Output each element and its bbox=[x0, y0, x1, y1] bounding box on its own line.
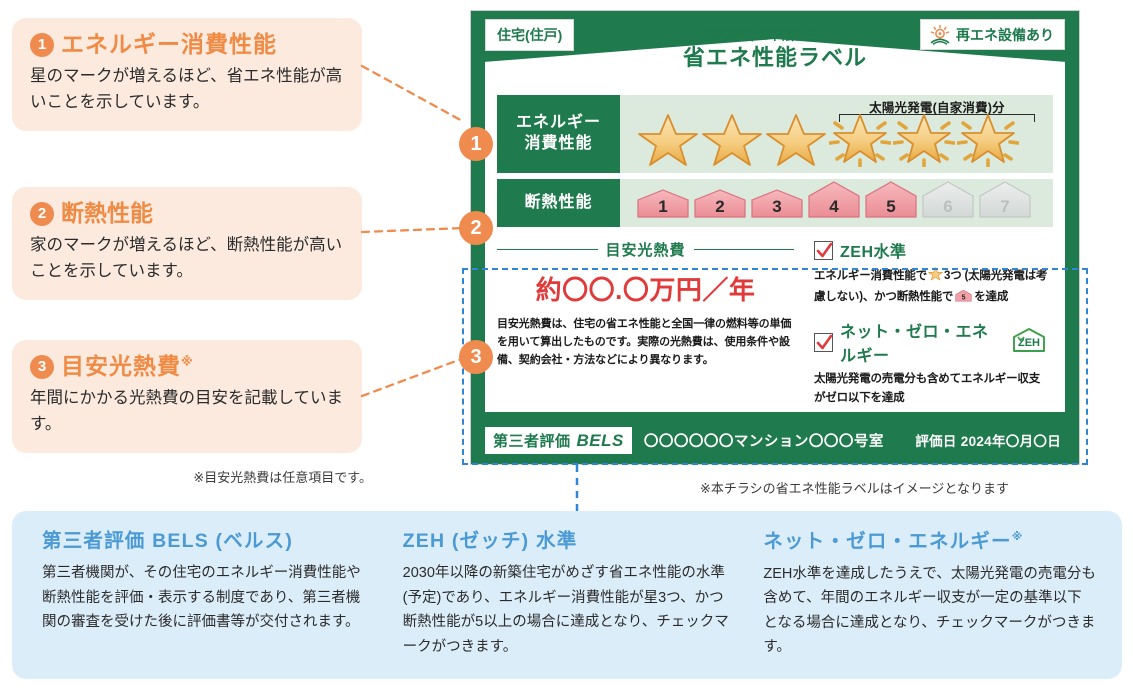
connector-line-1 bbox=[360, 60, 470, 130]
star-icon bbox=[928, 266, 943, 288]
utility-cost-heading: 目安光熱費 bbox=[497, 239, 794, 260]
callout-title: 断熱性能 bbox=[61, 201, 153, 226]
net-zero-energy-header: ネット・ゼロ・エネルギー ZEH bbox=[814, 318, 1049, 366]
zeh-standard-desc: エネルギー消費性能で3つ (太陽光発電は考慮しない)、かつ断熱性能で5を達成 bbox=[814, 266, 1049, 309]
glossary-title: ZEH (ゼッチ) 水準 bbox=[403, 531, 736, 552]
callout-header: 3 目安光熱費※ bbox=[30, 354, 344, 379]
svg-text:5: 5 bbox=[962, 294, 966, 301]
zeh-standard-item: ZEH水準 エネルギー消費性能で3つ (太陽光発電は考慮しない)、かつ断熱性能で… bbox=[814, 238, 1049, 309]
net-zero-energy-item: ネット・ゼロ・エネルギー ZEH 太陽光発電の売電分も含めてエネルギー収支がゼロ… bbox=[814, 318, 1049, 407]
renewable-chip-label: 再エネ設備あり bbox=[956, 25, 1054, 45]
callout-title: 目安光熱費※ bbox=[61, 354, 194, 379]
step-marker-3: 3 bbox=[459, 340, 493, 374]
house-grade-number: 6 bbox=[921, 197, 975, 217]
house-type-chip: 住宅(住戸) bbox=[485, 19, 574, 51]
callout-body: 年間にかかる光熱費の目安を記載しています。 bbox=[30, 386, 344, 437]
utility-cost-heading-text: 目安光熱費 bbox=[606, 239, 686, 260]
glossary-body: 第三者機関が、その住宅のエネルギー消費性能や断熱性能を評価・表示する制度であり、… bbox=[42, 561, 375, 634]
glossary-title: 第三者評価 BELS (ベルス) bbox=[42, 531, 375, 552]
heading-rule-right bbox=[694, 249, 795, 251]
house-grade-number: 1 bbox=[636, 197, 690, 217]
callout-number-badge: 1 bbox=[30, 33, 54, 57]
optional-item-note: ※目安光熱費は任意項目です。 bbox=[0, 467, 372, 486]
star-radiating-icon bbox=[893, 109, 955, 167]
zeh-standard-title: ZEH水準 bbox=[840, 238, 907, 262]
energy-performance-row: エネルギー 消費性能 太陽光発電(自家消費)分 bbox=[497, 95, 1053, 173]
connector-line-2 bbox=[360, 218, 470, 242]
insulation-row-label: 断熱性能 bbox=[497, 179, 620, 227]
zeh-desc-part3: を達成 bbox=[974, 291, 1008, 303]
house-grade-icon: 1 bbox=[636, 188, 690, 223]
glossary-title-text: ネット・ゼロ・エネルギー bbox=[763, 531, 1011, 553]
step-marker-1: 1 bbox=[459, 127, 493, 161]
bels-evaluation-date: 評価日 2024年〇月〇日 bbox=[915, 430, 1065, 450]
star-radiating-icon bbox=[829, 109, 891, 167]
insulation-row-content: 1 2 3 bbox=[620, 179, 1053, 227]
star-icon bbox=[637, 109, 699, 167]
callout-body: 星のマークが増えるほど、省エネ性能が高いことを示しています。 bbox=[30, 64, 344, 115]
star-icon bbox=[701, 109, 763, 167]
renewable-equipment-chip: 再エネ設備あり bbox=[920, 19, 1065, 50]
bels-badge-text: 第三者評価 bbox=[493, 430, 571, 451]
callout-number-badge: 2 bbox=[30, 202, 54, 226]
bels-footer-bar: 第三者評価 BELS 〇〇〇〇〇〇マンション〇〇〇号室 評価日 2024年〇月〇… bbox=[485, 425, 1065, 455]
svg-text:ZEH: ZEH bbox=[1018, 337, 1040, 349]
insulation-grade-group: 1 2 3 bbox=[636, 179, 1032, 227]
star-icon bbox=[765, 109, 827, 167]
house-grade-icon: 5 bbox=[955, 288, 972, 310]
house-grade-icon-inactive: 7 bbox=[978, 180, 1032, 223]
callout-insulation-performance: 2 断熱性能 家のマークが増えるほど、断熱性能が高いことを示しています。 bbox=[12, 187, 362, 300]
house-grade-number: 4 bbox=[807, 197, 861, 217]
energy-row-label: エネルギー 消費性能 bbox=[497, 95, 620, 173]
heading-rule-left bbox=[497, 249, 598, 251]
utility-cost-block: 目安光熱費 約〇〇.〇万円／年 目安光熱費は、住宅の省エネ性能と全国一律の燃料等… bbox=[497, 233, 794, 372]
insulation-performance-row: 断熱性能 1 bbox=[497, 179, 1053, 227]
callout-estimated-utility-cost: 3 目安光熱費※ 年間にかかる光熱費の目安を記載しています。 bbox=[12, 340, 362, 453]
bels-badge-mark: BELS bbox=[577, 431, 624, 451]
label-inner-body: エネルギー 消費性能 太陽光発電(自家消費)分 bbox=[485, 83, 1065, 412]
glossary-item-bels: 第三者評価 BELS (ベルス) 第三者機関が、その住宅のエネルギー消費性能や断… bbox=[42, 531, 375, 661]
glossary-item-zeh: ZEH (ゼッチ) 水準 2030年以降の新築住宅がめざす省エネ性能の水準(予定… bbox=[403, 531, 736, 661]
glossary-panel: 第三者評価 BELS (ベルス) 第三者機関が、その住宅のエネルギー消費性能や断… bbox=[12, 511, 1122, 679]
glossary-item-net-zero: ネット・ゼロ・エネルギー※ ZEH水準を達成したうえで、太陽光発電の売電分も含め… bbox=[763, 531, 1096, 661]
callout-header: 1 エネルギー消費性能 bbox=[30, 32, 344, 57]
sun-renewable-icon bbox=[929, 24, 951, 45]
bels-badge: 第三者評価 BELS bbox=[485, 427, 632, 454]
callout-number-badge: 3 bbox=[30, 355, 54, 379]
house-grade-icon-inactive: 6 bbox=[921, 180, 975, 223]
house-grade-icon: 3 bbox=[750, 188, 804, 223]
glossary-body: 2030年以降の新築住宅がめざす省エネ性能の水準(予定)であり、エネルギー消費性… bbox=[403, 561, 736, 658]
connector-line-3 bbox=[360, 352, 470, 402]
zeh-desc-part1: エネルギー消費性能で bbox=[814, 270, 927, 282]
energy-row-label-line1: エネルギー bbox=[516, 113, 601, 134]
label-image-disclaimer: ※本チラシの省エネ性能ラベルはイメージとなります bbox=[700, 478, 1009, 497]
label-lower-section: 目安光熱費 約〇〇.〇万円／年 目安光熱費は、住宅の省エネ性能と全国一律の燃料等… bbox=[497, 233, 1053, 372]
glossary-title-asterisk: ※ bbox=[1012, 531, 1024, 543]
house-grade-icon: 4 bbox=[807, 180, 861, 223]
zeh-logo-icon: ZEH bbox=[1009, 327, 1049, 358]
energy-performance-label-card: 建築物省エネ法に基づく 省エネ性能ラベル 住宅(住戸) 再エネ設備あり エネルギ… bbox=[470, 10, 1080, 465]
callout-title: エネルギー消費性能 bbox=[61, 32, 277, 57]
callout-header: 2 断熱性能 bbox=[30, 201, 344, 226]
zeh-achievement-block: ZEH水準 エネルギー消費性能で3つ (太陽光発電は考慮しない)、かつ断熱性能で… bbox=[804, 233, 1053, 372]
utility-cost-note: 目安光熱費は、住宅の省エネ性能と全国一律の燃料等の単価を用いて算出したものです。… bbox=[497, 316, 794, 369]
house-grade-icon: 5 bbox=[864, 180, 918, 223]
star-radiating-icon bbox=[957, 109, 1019, 167]
callout-body: 家のマークが増えるほど、断熱性能が高いことを示しています。 bbox=[30, 233, 344, 284]
connector-line-to-glossary bbox=[570, 464, 584, 514]
callout-title-text: 目安光熱費 bbox=[61, 353, 181, 379]
callout-energy-performance: 1 エネルギー消費性能 星のマークが増えるほど、省エネ性能が高いことを示していま… bbox=[12, 18, 362, 131]
bels-property-name: 〇〇〇〇〇〇マンション〇〇〇号室 bbox=[644, 430, 884, 451]
zeh-standard-header: ZEH水準 bbox=[814, 238, 1049, 262]
checkbox-checked-icon[interactable] bbox=[814, 333, 833, 352]
star-rating-group bbox=[637, 109, 1019, 167]
glossary-body: ZEH水準を達成したうえで、太陽光発電の売電分も含めて、年間のエネルギー収支が一… bbox=[763, 562, 1096, 659]
step-marker-2: 2 bbox=[459, 211, 493, 245]
house-grade-number: 3 bbox=[750, 197, 804, 217]
house-grade-number: 7 bbox=[978, 197, 1032, 217]
energy-row-label-line2: 消費性能 bbox=[524, 134, 592, 155]
utility-cost-amount: 約〇〇.〇万円／年 bbox=[497, 270, 794, 307]
house-grade-number: 5 bbox=[864, 197, 918, 217]
checkbox-checked-icon[interactable] bbox=[814, 241, 833, 260]
glossary-title: ネット・ゼロ・エネルギー※ bbox=[763, 531, 1096, 553]
house-grade-icon: 2 bbox=[693, 188, 747, 223]
house-grade-number: 2 bbox=[693, 197, 747, 217]
energy-row-content: 太陽光発電(自家消費)分 bbox=[620, 95, 1053, 173]
callout-title-asterisk: ※ bbox=[181, 354, 194, 368]
net-zero-energy-desc: 太陽光発電の売電分も含めてエネルギー収支がゼロ以下を達成 bbox=[814, 370, 1049, 407]
net-zero-energy-title: ネット・ゼロ・エネルギー bbox=[840, 318, 997, 366]
